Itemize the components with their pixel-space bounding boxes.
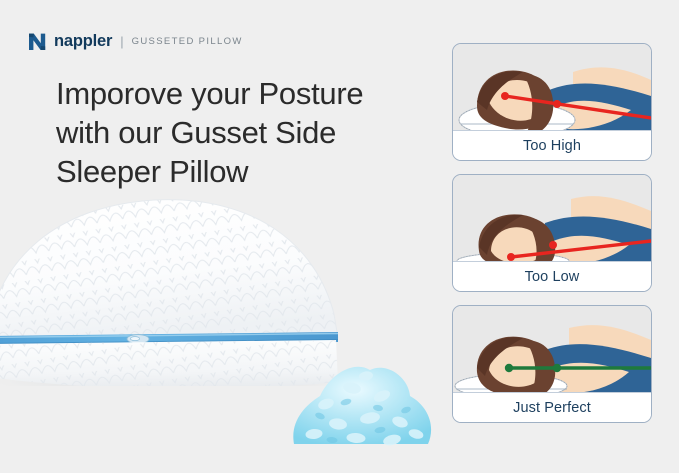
panel-too-high[interactable]: Too High bbox=[452, 43, 652, 161]
panel-just-perfect[interactable]: Just Perfect bbox=[452, 305, 652, 423]
nappler-n-logo-icon bbox=[28, 31, 47, 52]
page-title: Imporove your Posture with our Gusset Si… bbox=[56, 74, 436, 191]
zipper-pull-icon bbox=[127, 335, 149, 344]
panel-caption-too-low: Too Low bbox=[453, 261, 651, 291]
marketing-image-canvas: nappler | GUSSETED PILLOW Imporove your … bbox=[0, 0, 679, 473]
panel-caption-too-high: Too High bbox=[453, 130, 651, 160]
shredded-memory-foam-image bbox=[286, 352, 436, 450]
panel-too-low[interactable]: Too Low bbox=[452, 174, 652, 292]
brand-tagline: GUSSETED PILLOW bbox=[132, 37, 243, 47]
brand-lockup: nappler | GUSSETED PILLOW bbox=[28, 31, 243, 52]
brand-name: nappler bbox=[54, 33, 112, 50]
panel-caption-just-perfect: Just Perfect bbox=[453, 392, 651, 422]
brand-divider: | bbox=[120, 35, 123, 48]
headline-line-2: with our Gusset Side bbox=[56, 113, 436, 152]
posture-comparison-panels: Too High bbox=[452, 43, 650, 436]
headline-line-1: Imporove your Posture bbox=[56, 74, 436, 113]
